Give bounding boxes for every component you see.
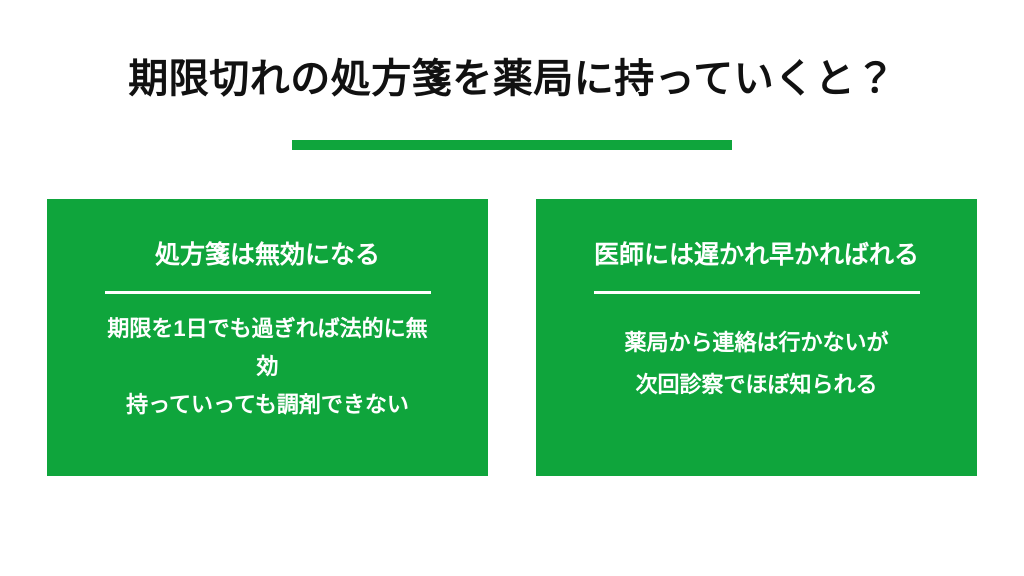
card-divider [105, 291, 431, 294]
title-block: 期限切れの処方箋を薬局に持っていくと？ [0, 55, 1024, 103]
card-heading: 医師には遅かれ早かればれる [594, 239, 919, 271]
card-body: 薬局から連絡は行かないが 次回診察でほぼ知られる [555, 322, 959, 406]
card-divider [594, 291, 920, 294]
card-heading: 処方箋は無効になる [155, 239, 380, 271]
card-body-line: 薬局から連絡は行かないが [555, 322, 959, 364]
title-accent-rule [292, 140, 732, 150]
page-title: 期限切れの処方箋を薬局に持っていくと？ [0, 55, 1024, 103]
card-body-line: 次回診察でほぼ知られる [555, 364, 959, 406]
card-body-line: 効 [66, 348, 470, 386]
card-body-line: 期限を1日でも過ぎれば法的に無 [66, 310, 470, 348]
card-body-line: 持っていっても調剤できない [66, 386, 470, 424]
card-prescription-invalid: 処方箋は無効になる 期限を1日でも過ぎれば法的に無 効 持っていっても調剤できな… [47, 199, 488, 476]
card-doctor-will-know: 医師には遅かれ早かればれる 薬局から連絡は行かないが 次回診察でほぼ知られる [536, 199, 977, 476]
card-body: 期限を1日でも過ぎれば法的に無 効 持っていっても調剤できない [66, 310, 470, 424]
slide-root: 期限切れの処方箋を薬局に持っていくと？ 処方箋は無効になる 期限を1日でも過ぎれ… [0, 0, 1024, 576]
card-row: 処方箋は無効になる 期限を1日でも過ぎれば法的に無 効 持っていっても調剤できな… [47, 199, 977, 476]
